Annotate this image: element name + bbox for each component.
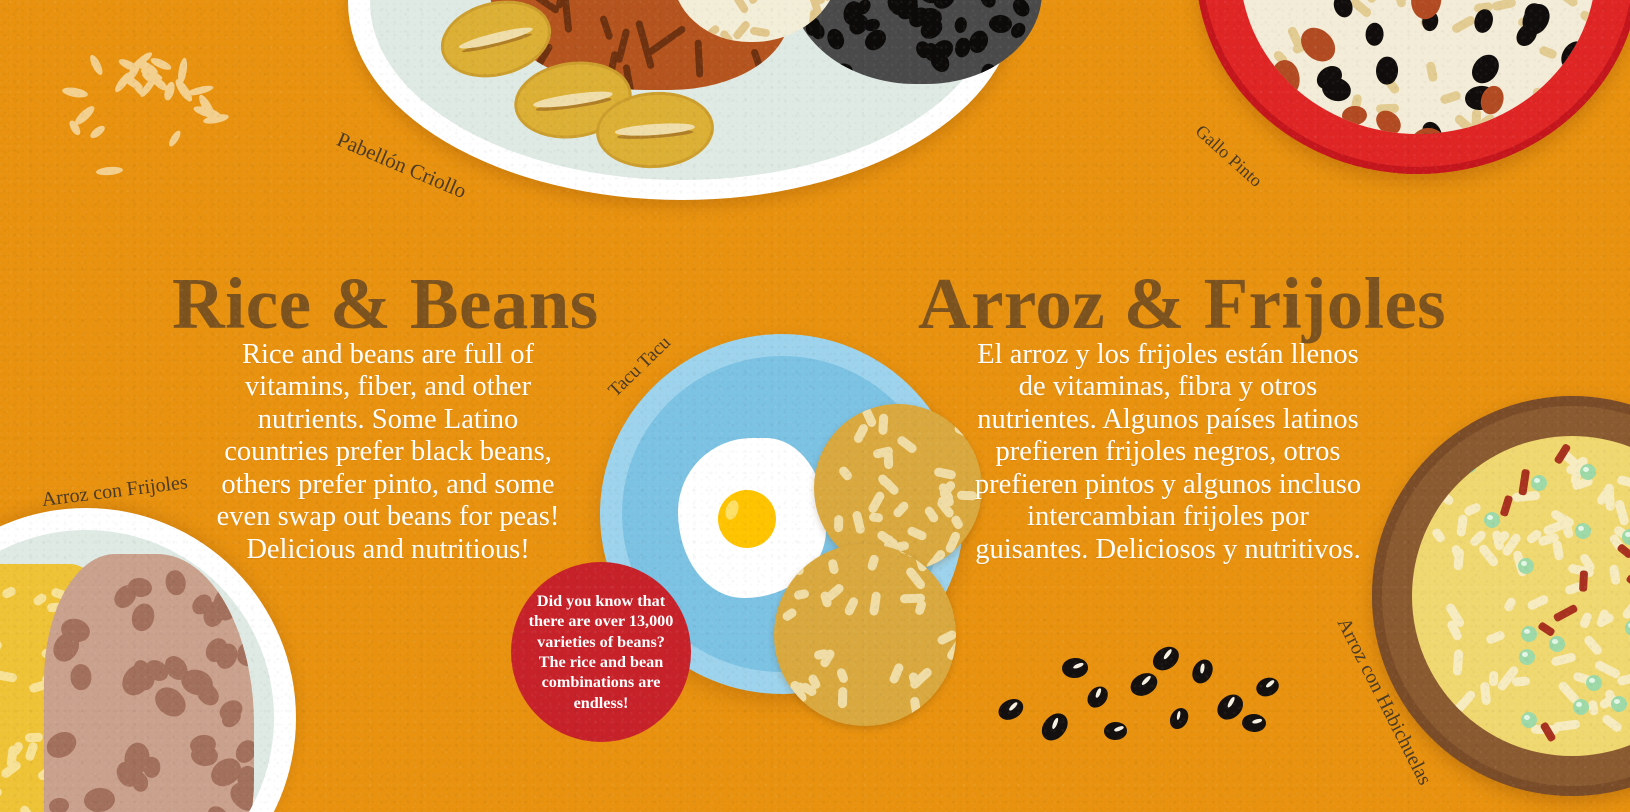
body-text-english: Rice and beans are full of vitamins, fib…	[216, 339, 560, 567]
rice-grain-scatter	[55, 38, 230, 188]
black-beans-portion	[790, 0, 1042, 84]
page-title-spanish: Arroz & Frijoles	[918, 267, 1446, 340]
rice-grain	[88, 124, 106, 140]
black-bean	[1188, 656, 1216, 687]
black-bean	[995, 695, 1027, 724]
rice-grain	[95, 166, 123, 177]
gallo-pinto-bowl	[1196, 0, 1630, 174]
black-bean	[1037, 709, 1073, 746]
black-bean	[1061, 657, 1088, 678]
pabellon-criollo-plate	[348, 0, 1016, 200]
dish-label-gallo-pinto: Gallo Pinto	[1191, 121, 1266, 192]
rice-grain	[61, 86, 88, 99]
black-bean	[1148, 642, 1183, 676]
did-you-know-text: Did you know that there are over 13,000 …	[523, 591, 679, 713]
black-bean	[1166, 705, 1192, 733]
dish-label-arroz-con-frijoles: Arroz con Frijoles	[41, 471, 189, 512]
black-bean	[1242, 713, 1267, 733]
black-bean	[1104, 721, 1128, 740]
black-bean	[1127, 669, 1162, 701]
rice-grain	[72, 103, 96, 126]
pinto-beans-portion	[44, 554, 254, 812]
rice-grain	[167, 129, 183, 148]
plate-well	[370, 0, 994, 180]
egg-yolk	[718, 490, 776, 548]
black-bean	[1254, 674, 1282, 699]
black-bean-scatter	[980, 618, 1280, 738]
page-title-english: Rice & Beans	[172, 267, 599, 340]
rice-grain	[87, 53, 105, 77]
rice-patty-2	[774, 544, 956, 726]
spread-page: Rice & Beans Arroz & Frijoles Rice and b…	[0, 0, 1630, 812]
black-bean	[1083, 682, 1112, 711]
plate-well	[0, 530, 274, 812]
did-you-know-badge: Did you know that there are over 13,000 …	[511, 562, 691, 742]
body-text-spanish: El arroz y los frijoles están llenos de …	[972, 339, 1364, 567]
